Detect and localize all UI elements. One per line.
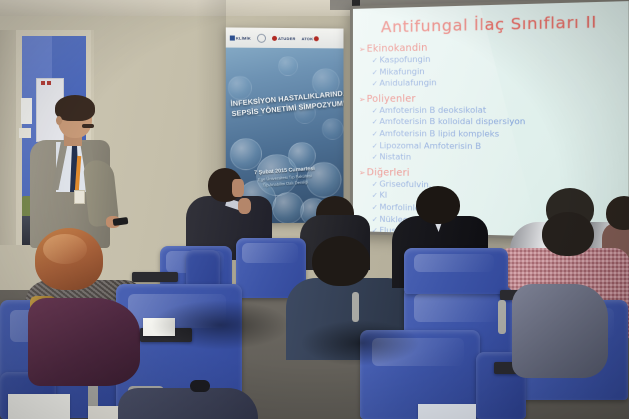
slide-group-heading: ➢Poliyenler <box>359 92 622 105</box>
speaker-mustache <box>82 124 94 128</box>
check-bullet-icon: ✓ <box>372 56 378 65</box>
grey-coat-on-seat <box>512 284 608 378</box>
circle-logo-icon <box>257 34 266 43</box>
speaker-presenter <box>30 98 125 248</box>
slide-sub-item: ✓Anidulafungin <box>372 75 622 89</box>
notepad-paper[interactable] <box>418 404 476 419</box>
check-bullet-icon: ✓ <box>372 202 378 211</box>
conference-photo-scene: KLİMİK ATUDER ATOK İNFEKSİYON HASTALIKLA… <box>0 0 629 419</box>
slide-group: ➢Poliyenler ✓Amfoterisin B deoksikolat ✓… <box>359 92 622 166</box>
seat-frame <box>498 300 506 334</box>
arrow-bullet-icon: ➢ <box>359 168 366 177</box>
audience-hair-highlight <box>43 234 87 264</box>
notepad-paper[interactable] <box>8 394 70 419</box>
slide-group: ➢Ekinokandin ✓Kaspofungin ✓Mikafungin ✓A… <box>359 39 622 90</box>
seat-frame <box>352 292 359 322</box>
speaker-ear <box>56 116 62 125</box>
check-bullet-icon: ✓ <box>372 179 378 188</box>
floor-shadow <box>150 300 290 350</box>
banner-logo-strip: KLİMİK ATUDER ATOK <box>226 27 344 48</box>
purple-coat-on-seat <box>28 298 140 386</box>
slide-sub-item: ✓Amfoterisin B deoksikolat <box>372 104 622 117</box>
check-bullet-icon: ✓ <box>372 129 378 138</box>
check-bullet-icon: ✓ <box>372 191 378 200</box>
audience-face <box>232 179 244 197</box>
check-bullet-icon: ✓ <box>372 226 378 235</box>
audience-hand <box>238 198 251 214</box>
check-bullet-icon: ✓ <box>372 106 378 115</box>
arrow-bullet-icon: ➢ <box>359 95 366 104</box>
speaker-name-badge <box>74 190 85 204</box>
slide-sub-item: ✓Nistatin <box>372 151 622 165</box>
audience-head <box>416 186 460 224</box>
floor-shadow <box>300 320 420 366</box>
whiteboard-marker-dot <box>47 81 51 85</box>
audience-head <box>312 236 370 286</box>
whiteboard-marker-dot <box>41 81 45 85</box>
logo-atok: ATOK <box>301 36 319 41</box>
slide-title: Antifungal İlaç Sınıfları II <box>359 12 622 37</box>
check-bullet-icon: ✓ <box>372 79 378 88</box>
logo-atuder: ATUDER <box>272 36 296 41</box>
shoe <box>190 380 210 392</box>
check-bullet-icon: ✓ <box>372 117 378 126</box>
check-bullet-icon: ✓ <box>372 141 378 150</box>
slide-sub-item: ✓Amfoterisin B kolloidal dispersiyon <box>372 116 622 128</box>
logo-klimik: KLİMİK <box>230 36 251 41</box>
dark-garment-on-seat <box>118 388 258 419</box>
audience-head <box>542 212 594 256</box>
check-bullet-icon: ✓ <box>372 214 378 223</box>
check-bullet-icon: ✓ <box>372 152 378 161</box>
arrow-bullet-icon: ➢ <box>359 45 366 54</box>
seat-back[interactable] <box>404 248 508 294</box>
check-bullet-icon: ✓ <box>372 67 378 76</box>
